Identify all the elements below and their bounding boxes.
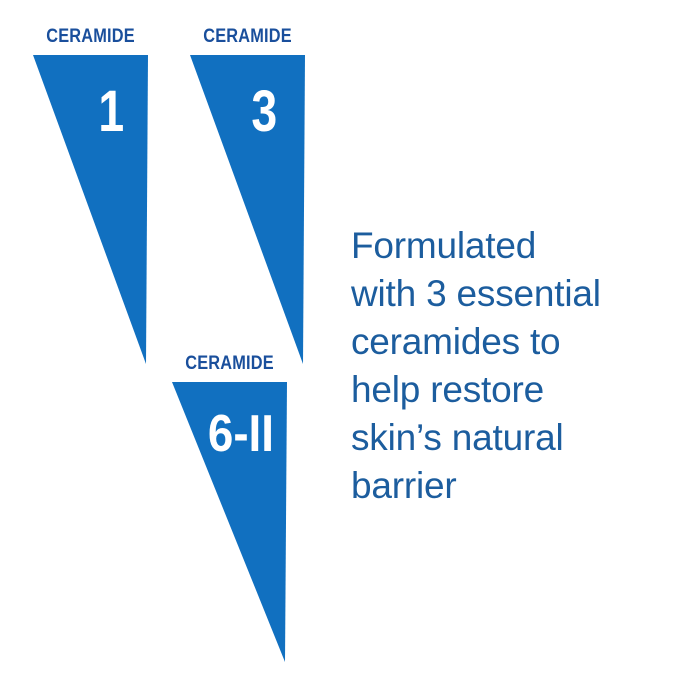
ceramide-label-1: CERAMIDE (41, 26, 140, 48)
ceramide-label-3: CERAMIDE (198, 26, 297, 48)
ceramide-number-3: 3 (202, 83, 294, 141)
ceramide-number-1: 1 (45, 83, 137, 141)
ceramide-label-6ii: CERAMIDE (180, 353, 279, 375)
description-text: Formulated with 3 essential ceramides to… (351, 222, 661, 510)
ceramide-number-6ii: 6-II (179, 408, 280, 460)
ceramide-infographic: CERAMIDE 1 CERAMIDE 3 CERAMIDE 6-II Form… (0, 0, 679, 679)
